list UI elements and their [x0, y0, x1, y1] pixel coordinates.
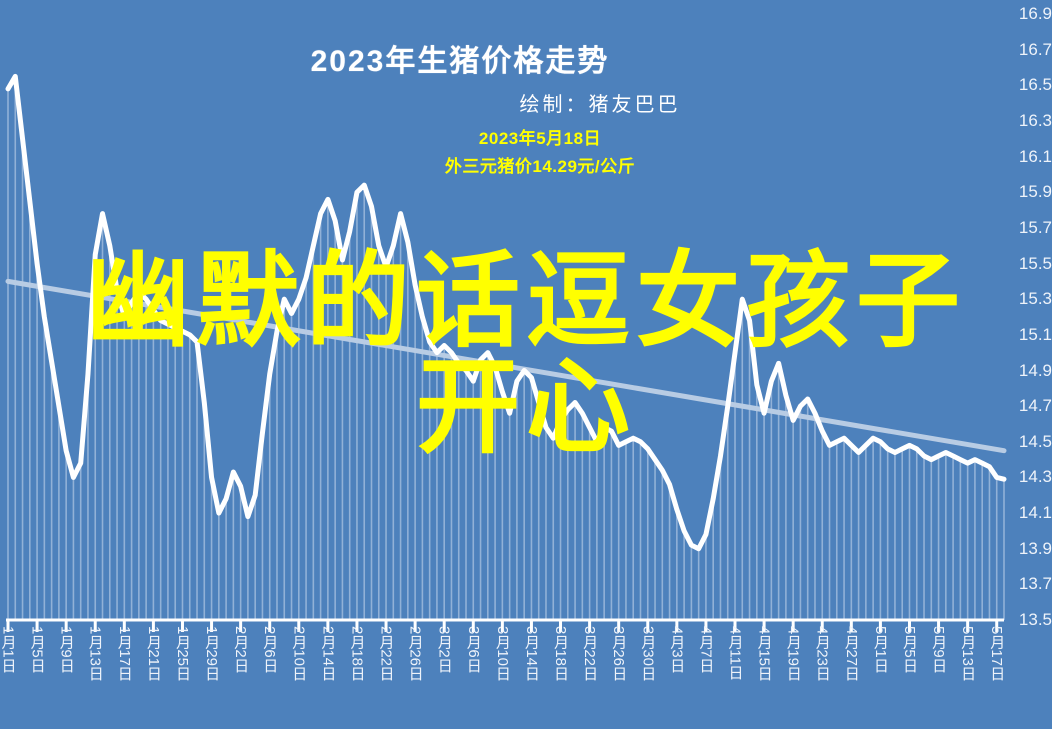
chart-title: 2023年生猪价格走势: [0, 36, 920, 80]
x-axis-tick-label: 3月14日: [521, 626, 542, 681]
x-axis-labels: 1月1日1月5日1月9日1月13日1月17日1月21日1月25日1月29日2月2…: [0, 626, 1008, 729]
y-axis-tick-label: 13.7: [1019, 574, 1052, 594]
trend-line: [8, 281, 1004, 450]
y-axis-tick-label: 16.1: [1019, 147, 1052, 167]
x-axis-tick-label: 2月18日: [347, 626, 368, 681]
y-axis-tick-label: 15.3: [1019, 289, 1052, 309]
y-axis-tick-label: 14.9: [1019, 361, 1052, 381]
x-axis-tick-label: 4月11日: [725, 626, 746, 680]
x-axis-tick-label: 1月9日: [56, 626, 77, 673]
y-axis-tick-label: 16.7: [1019, 40, 1052, 60]
x-axis-tick-label: 3月10日: [492, 626, 513, 681]
x-axis-tick-label: 4月7日: [695, 626, 716, 673]
x-axis-tick-label: 3月22日: [579, 626, 600, 681]
y-axis-tick-label: 13.5: [1019, 610, 1052, 630]
y-axis-tick-label: 14.5: [1019, 432, 1052, 452]
x-axis-tick-label: 4月19日: [783, 626, 804, 681]
x-axis-tick-label: 1月5日: [27, 626, 48, 673]
x-axis-tick-label: 1月29日: [201, 626, 222, 681]
y-axis-tick-label: 15.9: [1019, 182, 1052, 202]
annotation-date: 2023年5月18日: [330, 124, 750, 149]
x-axis-tick-label: 5月5日: [899, 626, 920, 673]
x-axis-tick-label: 1月13日: [85, 626, 106, 681]
y-axis-tick-label: 16.9: [1019, 4, 1052, 24]
x-axis-tick-label: 5月17日: [986, 626, 1007, 681]
x-axis-tick-label: 5月13日: [957, 626, 978, 681]
y-axis-tick-label: 16.5: [1019, 75, 1052, 95]
y-axis-tick-label: 14.7: [1019, 396, 1052, 416]
x-axis-tick-label: 5月1日: [870, 626, 891, 673]
chart-credit: 绘制：猪友巴巴: [320, 88, 880, 117]
x-axis-tick-label: 1月17日: [114, 626, 135, 681]
x-axis-tick-label: 2月14日: [317, 626, 338, 681]
x-axis-tick-label: 5月9日: [928, 626, 949, 673]
x-axis-tick-label: 3月18日: [550, 626, 571, 681]
x-axis-tick-label: 4月27日: [841, 626, 862, 681]
x-axis-tick-label: 1月25日: [172, 626, 193, 681]
x-axis-tick-label: 1月1日: [0, 626, 19, 673]
x-axis-tick-label: 2月22日: [376, 626, 397, 681]
x-axis-tick-label: 3月6日: [463, 626, 484, 673]
x-axis-tick-label: 4月23日: [812, 626, 833, 681]
x-axis-tick-label: 3月30日: [637, 626, 658, 681]
x-axis-tick-label: 2月6日: [259, 626, 280, 673]
x-axis-tick-label: 3月26日: [608, 626, 629, 681]
y-axis-tick-label: 14.3: [1019, 467, 1052, 487]
y-axis-tick-label: 16.3: [1019, 111, 1052, 131]
y-axis-tick-label: 15.5: [1019, 254, 1052, 274]
x-axis-tick-label: 4月3日: [666, 626, 687, 673]
x-axis-tick-label: 2月26日: [405, 626, 426, 681]
y-axis-tick-label: 15.1: [1019, 325, 1052, 345]
x-axis-tick-label: 1月21日: [143, 626, 164, 681]
annotation-price: 外三元猪价14.29元/公斤: [330, 152, 750, 177]
y-axis-tick-label: 13.9: [1019, 539, 1052, 559]
x-axis-tick-label: 3月2日: [434, 626, 455, 673]
x-axis-tick-label: 2月10日: [288, 626, 309, 681]
y-axis-tick-label: 15.7: [1019, 218, 1052, 238]
chart-canvas: 2023年生猪价格走势 绘制：猪友巴巴 2023年5月18日 外三元猪价14.2…: [0, 0, 1052, 729]
y-axis-tick-label: 14.1: [1019, 503, 1052, 523]
y-axis-labels: 16.916.716.516.316.115.915.715.515.315.1…: [1008, 0, 1052, 640]
x-axis-tick-label: 2月2日: [230, 626, 251, 673]
x-axis-tick-label: 4月15日: [754, 626, 775, 681]
